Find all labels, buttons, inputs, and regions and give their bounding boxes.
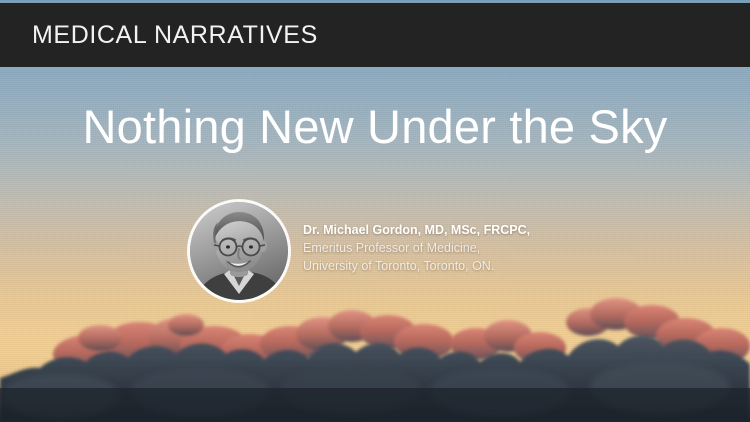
- avatar: [190, 202, 288, 300]
- cloud-bank-illustration: [0, 292, 750, 422]
- series-title: MEDICAL NARRATIVES: [32, 21, 318, 50]
- author-block: Dr. Michael Gordon, MD, MSc, FRCPC, Emer…: [190, 202, 530, 300]
- presentation-slide: MEDICAL NARRATIVES Nothing New Under the…: [0, 0, 750, 422]
- author-affiliation-line-1: Emeritus Professor of Medicine,: [303, 239, 530, 257]
- cloud-base-shadow: [0, 388, 750, 422]
- author-name: Dr. Michael Gordon, MD, MSc, FRCPC,: [303, 221, 530, 239]
- author-details: Dr. Michael Gordon, MD, MSc, FRCPC, Emer…: [303, 202, 530, 275]
- portrait-photo-icon: [190, 202, 288, 300]
- author-affiliation-line-2: University of Toronto, Toronto, ON.: [303, 257, 530, 275]
- slide-title: Nothing New Under the Sky: [0, 101, 750, 154]
- header-bar: MEDICAL NARRATIVES: [0, 3, 750, 67]
